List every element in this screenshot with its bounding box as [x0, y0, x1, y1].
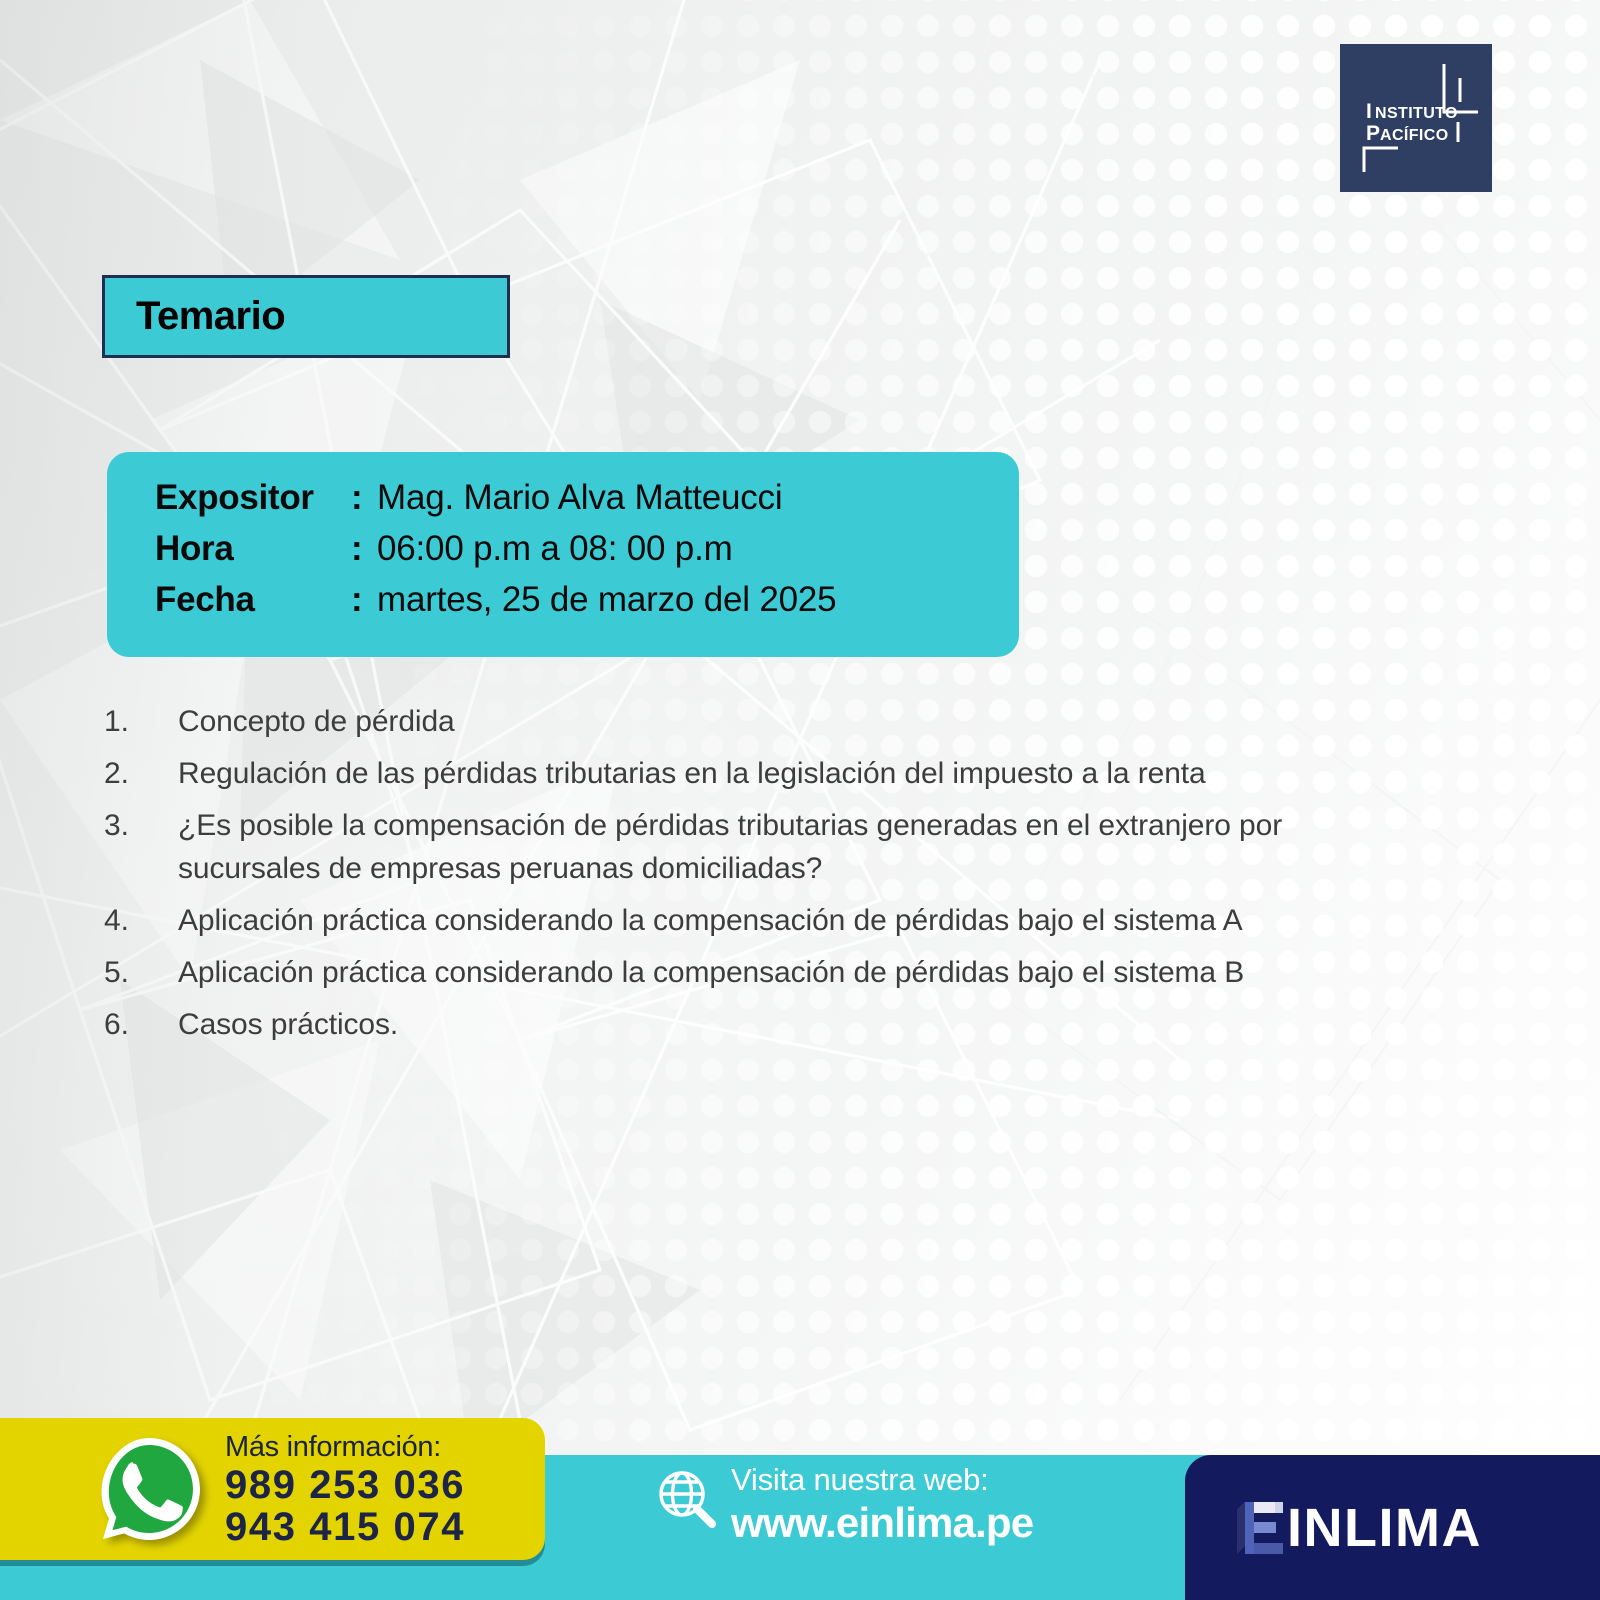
svg-text:ACÍFICO: ACÍFICO: [1380, 125, 1449, 144]
instituto-pacifico-logo: I NSTITUTO P ACÍFICO: [1340, 44, 1492, 192]
instituto-pacifico-logo-mark: I NSTITUTO P ACÍFICO: [1340, 44, 1492, 192]
info-value-expositor: Mag. Mario Alva Matteucci: [377, 478, 782, 518]
list-item: 3. ¿Es posible la compensación de pérdid…: [104, 804, 1394, 890]
info-value-fecha: martes, 25 de marzo del 2025: [377, 580, 836, 620]
list-item-number: 2.: [104, 752, 178, 795]
list-item-text: Aplicación práctica considerando la comp…: [178, 951, 1244, 994]
svg-text:P: P: [1366, 122, 1380, 145]
whatsapp-contact-block[interactable]: Más información: 989 253 036 943 415 074: [0, 1418, 545, 1560]
info-separator-expositor: :: [351, 478, 377, 518]
info-separator-hora: :: [351, 529, 377, 569]
info-label-hora: Hora: [155, 529, 351, 569]
website-url[interactable]: www.einlima.pe: [731, 1499, 1033, 1547]
page-title: Temario: [136, 294, 285, 339]
list-item: 6. Casos prácticos.: [104, 1003, 1394, 1046]
list-item: 4. Aplicación práctica considerando la c…: [104, 899, 1394, 942]
list-item-text: Aplicación práctica considerando la comp…: [178, 899, 1243, 942]
einlima-logo: INLIMA: [1237, 1497, 1482, 1559]
info-row-hora: Hora : 06:00 p.m a 08: 00 p.m: [155, 529, 1019, 580]
list-item-number: 6.: [104, 1003, 178, 1046]
list-item-number: 5.: [104, 951, 178, 994]
event-info-card: Expositor : Mag. Mario Alva Matteucci Ho…: [107, 452, 1019, 657]
temario-heading-badge: Temario: [102, 275, 510, 358]
list-item-number: 3.: [104, 804, 178, 847]
svg-text:I: I: [1366, 100, 1372, 123]
whatsapp-caption: Más información:: [225, 1431, 465, 1464]
website-caption: Visita nuestra web:: [731, 1462, 1033, 1498]
list-item-text: Casos prácticos.: [178, 1003, 398, 1046]
info-separator-fecha: :: [351, 580, 377, 620]
list-item-number: 4.: [104, 899, 178, 942]
einlima-wordmark: INLIMA: [1287, 1497, 1482, 1559]
globe-search-icon: [655, 1468, 717, 1530]
list-item: 2. Regulación de las pérdidas tributaria…: [104, 752, 1394, 795]
whatsapp-icon: [95, 1435, 203, 1543]
info-label-fecha: Fecha: [155, 580, 351, 620]
svg-text:NSTITUTO: NSTITUTO: [1375, 105, 1458, 122]
list-item-text: ¿Es posible la compensación de pérdidas …: [178, 804, 1394, 890]
list-item-text: Regulación de las pérdidas tributarias e…: [178, 752, 1206, 795]
info-value-hora: 06:00 p.m a 08: 00 p.m: [377, 529, 733, 569]
einlima-brand-block: INLIMA: [1185, 1455, 1600, 1600]
website-text: Visita nuestra web: www.einlima.pe: [731, 1462, 1033, 1547]
poster-canvas: I NSTITUTO P ACÍFICO Temario Expositor :…: [0, 0, 1600, 1600]
website-info-group[interactable]: Visita nuestra web: www.einlima.pe: [655, 1462, 1033, 1547]
agenda-list: 1. Concepto de pérdida 2. Regulación de …: [104, 700, 1394, 1055]
list-item: 1. Concepto de pérdida: [104, 700, 1394, 743]
list-item: 5. Aplicación práctica considerando la c…: [104, 951, 1394, 994]
whatsapp-phone-1[interactable]: 989 253 036: [225, 1464, 465, 1506]
info-label-expositor: Expositor: [155, 478, 351, 518]
info-row-fecha: Fecha : martes, 25 de marzo del 2025: [155, 580, 1019, 631]
list-item-text: Concepto de pérdida: [178, 700, 455, 743]
list-item-number: 1.: [104, 700, 178, 743]
whatsapp-text: Más información: 989 253 036 943 415 074: [225, 1431, 465, 1548]
whatsapp-phone-2[interactable]: 943 415 074: [225, 1506, 465, 1548]
info-row-expositor: Expositor : Mag. Mario Alva Matteucci: [155, 478, 1019, 529]
einlima-e-icon: [1237, 1502, 1283, 1554]
